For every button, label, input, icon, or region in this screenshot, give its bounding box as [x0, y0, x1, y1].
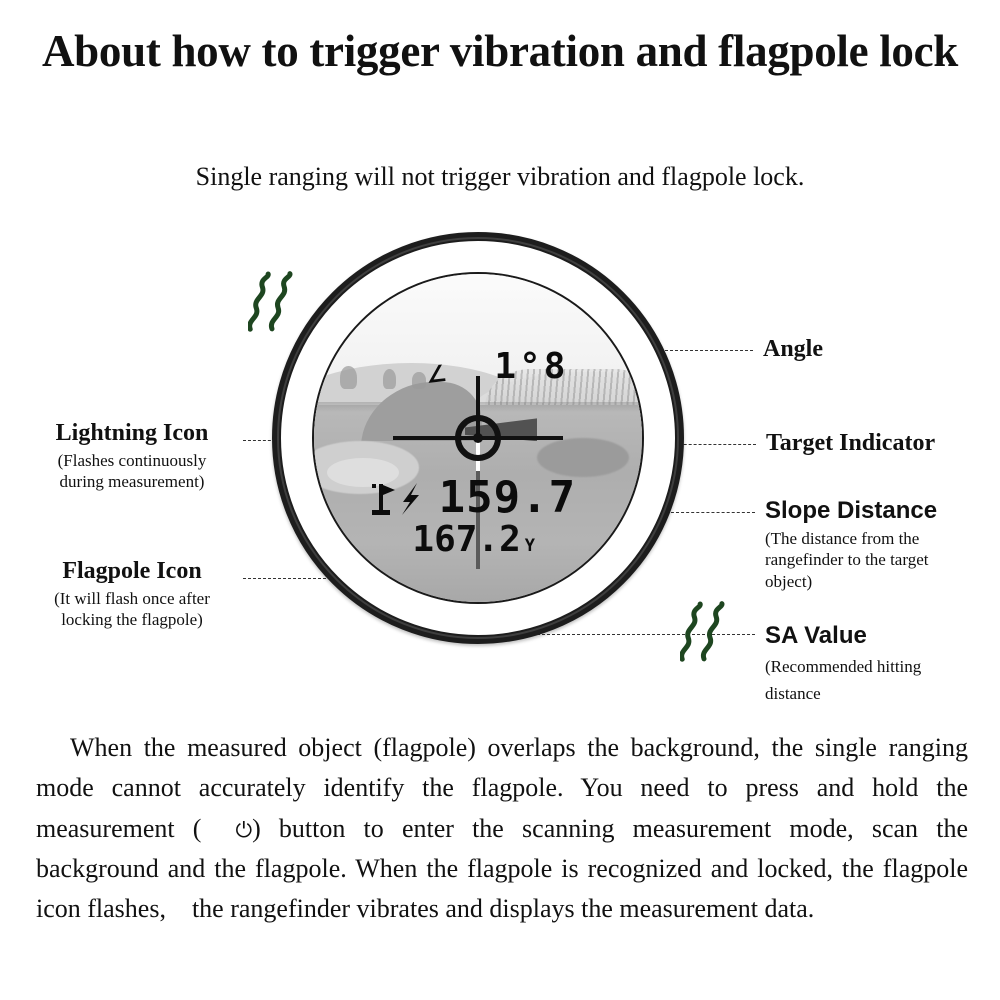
callout-sa-value: SA Value (Recommended hitting distance — [765, 622, 987, 705]
sa-value-row: 167.2 Y — [412, 522, 535, 558]
callout-angle: Angle — [763, 336, 823, 363]
angle-symbol-icon: ∠ — [424, 363, 447, 388]
display-lens: ∠ 1°8 159.7 167.2 Y — [312, 272, 644, 604]
callout-lightning: Lightning Icon (Flashes continuously dur… — [18, 420, 246, 493]
callout-slope-distance: Slope Distance (The distance from the ra… — [765, 497, 987, 592]
callout-flagpole-label: Flagpole Icon — [18, 558, 246, 585]
callout-angle-label: Angle — [763, 336, 823, 363]
vibration-waves-icon-2 — [680, 600, 744, 671]
sa-value: 167.2 — [412, 522, 520, 558]
flagpole-icon — [370, 482, 396, 516]
callout-lightning-note-1: (Flashes continuously — [18, 450, 246, 471]
power-button-icon: ⏻ — [201, 814, 252, 847]
slope-distance-value: 159.7 — [439, 476, 576, 520]
body-paragraph: When the measured object (flagpole) over… — [36, 728, 968, 929]
callout-slope-note-2: rangefinder to the target — [765, 549, 987, 570]
page-title: About how to trigger vibration and flagp… — [0, 22, 1000, 81]
page-root: About how to trigger vibration and flagp… — [0, 0, 1000, 1000]
angle-value: 1°8 — [494, 349, 568, 385]
callout-slope-distance-label: Slope Distance — [765, 497, 987, 525]
callout-target-indicator-label: Target Indicator — [766, 430, 935, 457]
callout-slope-note-3: object) — [765, 571, 987, 592]
rangefinder-display: ∠ 1°8 159.7 167.2 Y — [272, 232, 684, 644]
sa-unit: Y — [525, 538, 535, 558]
lightning-icon — [399, 482, 421, 516]
flagpole-lock-indicator — [370, 482, 421, 516]
callout-sa-note-2: distance — [765, 683, 987, 704]
callout-target-indicator: Target Indicator — [766, 430, 935, 457]
callout-sa-value-label: SA Value — [765, 622, 987, 650]
lcd-overlay: ∠ 1°8 159.7 167.2 Y — [314, 274, 642, 602]
callout-flagpole-note-1: (It will flash once after — [18, 588, 246, 609]
callout-lightning-label: Lightning Icon — [18, 420, 246, 447]
page-subtitle: Single ranging will not trigger vibratio… — [0, 160, 1000, 194]
callout-slope-note-1: (The distance from the — [765, 528, 987, 549]
callout-flagpole: Flagpole Icon (It will flash once after … — [18, 558, 246, 631]
callout-lightning-note-2: during measurement) — [18, 471, 246, 492]
callout-sa-note-1: (Recommended hitting — [765, 656, 987, 677]
callout-flagpole-note-2: locking the flagpole) — [18, 609, 246, 630]
